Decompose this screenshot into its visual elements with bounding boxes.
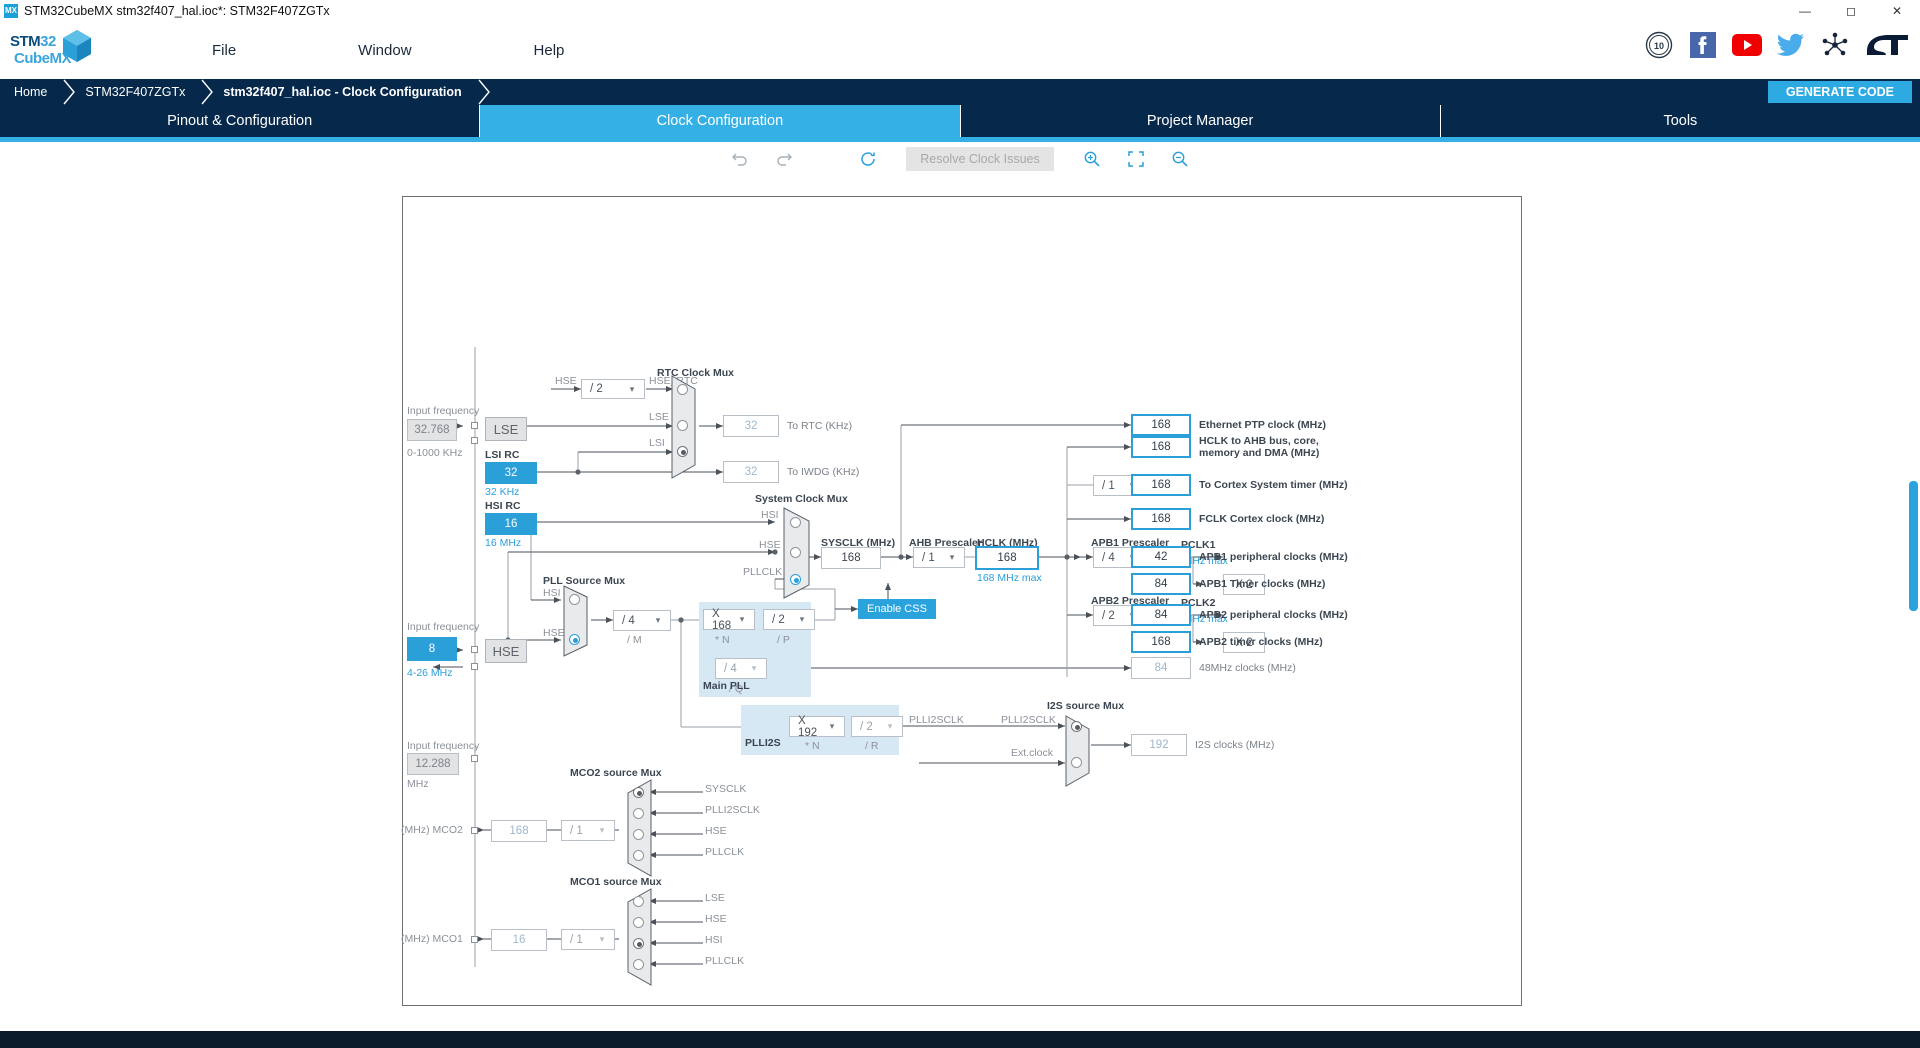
minimize-button[interactable]: — [1782,0,1828,22]
sysclk-value: 168 [821,547,881,569]
mco1-option-label-pllclk: PLLCLK [705,955,744,967]
hclk-max-label: 168 MHz max [977,572,1042,584]
chevron-down-icon: ▾ [734,614,750,625]
window-controls: — ◻ ✕ [1782,0,1920,22]
window-title: STM32CubeMX stm32f407_hal.ioc*: STM32F40… [24,4,330,18]
mco1-option-label-hse: HSE [705,913,727,925]
plli2sclk-out-label: PLLI2SCLK [909,714,964,726]
anniversary-10-years-icon[interactable]: 10 [1644,30,1674,60]
tab-pinout-configuration[interactable]: Pinout & Configuration [0,105,480,137]
sys-mux-option-hse[interactable] [790,547,801,558]
mco1-mux-option-hsi[interactable] [633,938,644,949]
mco2-divider[interactable]: / 1 ▾ [561,820,615,841]
system-clock-mux-title: System Clock Mux [755,493,848,505]
tab-tools[interactable]: Tools [1441,105,1920,137]
ahb-prescaler-value: / 1 [922,552,944,564]
pll-mux-hse-label: HSE [543,627,565,639]
pll-m-divider[interactable]: / 4 ▾ [613,610,671,631]
output-value-cortex-system-timer: 168 [1131,474,1191,496]
output-label-48mhz: 48MHz clocks (MHz) [1199,662,1296,674]
plli2s-title: PLLI2S [745,737,781,749]
output-value-fclk-cortex: 168 [1131,508,1191,530]
i2s-clocks-value: 192 [1131,734,1187,756]
mco2-mux-option-plli2sclk[interactable] [633,808,644,819]
close-button[interactable]: ✕ [1874,0,1920,22]
mco1-pin-label: (MHz) MCO1 [401,933,463,945]
social-links: 10 [1644,30,1910,60]
os-taskbar [0,1031,1920,1048]
menu-file[interactable]: File [206,38,242,63]
mco1-option-label-hsi: HSI [705,934,723,946]
ahb-prescaler[interactable]: / 1 ▾ [913,547,965,568]
i2s-mux-option-ext-clock[interactable] [1071,757,1082,768]
hse-input-frequency-field[interactable]: 8 [407,637,457,661]
i2s-source-mux-title: I2S source Mux [1047,700,1124,712]
stm32cubemx-logo: STM32 CubeMX [10,27,106,75]
pll-n-multiplier[interactable]: X 168 ▾ [703,609,755,630]
pll-mux-option-hsi[interactable] [569,594,580,605]
hse-input-frequency-label: Input frequency [407,621,479,633]
pll-p-caption: / P [777,634,790,646]
mco1-value: 16 [491,929,547,951]
mco1-source-mux[interactable] [623,888,653,991]
mco2-option-label-sysclk: SYSCLK [705,783,746,795]
pll-mux-hsi-label: HSI [543,587,561,599]
hse-pin-2[interactable] [471,663,478,670]
rtc-lse-label: LSE [649,411,669,423]
rtc-clock-mux[interactable] [671,375,703,484]
pll-n-caption: * N [715,634,730,646]
rtc-mux-option-hse-rtc[interactable] [677,384,688,395]
plli2s-r-divider[interactable]: / 2 ▾ [851,716,903,737]
mco1-divider-value: / 1 [570,934,594,946]
i2s-source-mux[interactable] [1065,715,1095,792]
st-logo-icon[interactable] [1864,30,1910,60]
svg-text:10: 10 [1654,41,1664,51]
breadcrumb-chevron-icon [478,79,491,105]
mco2-mux-option-sysclk[interactable] [633,787,644,798]
plli2s-r-caption: / R [865,740,878,752]
main-tabs: Pinout & Configuration Clock Configurati… [0,105,1920,137]
tab-project-manager[interactable]: Project Manager [961,105,1441,137]
chevron-down-icon: ▾ [882,721,898,732]
sys-mux-hsi-label: HSI [761,509,779,521]
undo-icon[interactable] [718,144,762,174]
i2s-mux-option-plli2sclk[interactable] [1071,721,1082,732]
lse-range-label: 0-1000 KHz [407,447,462,459]
pll-m-divider-value: / 4 [622,615,650,627]
hse-source-box[interactable]: HSE [485,639,527,663]
output-label-apb1-timer: APB1 Timer clocks (MHz) [1199,578,1325,590]
chevron-down-icon: ▾ [944,552,960,563]
maximize-button[interactable]: ◻ [1828,0,1874,22]
apb1-prescaler-value: / 4 [1102,552,1124,564]
community-icon[interactable] [1820,30,1850,60]
resolve-clock-issues-button[interactable]: Resolve Clock Issues [906,147,1054,171]
chevron-down-icon: ▾ [594,934,610,945]
lse-source-box[interactable]: LSE [485,417,527,441]
zoom-in-icon[interactable] [1070,144,1114,174]
i2s-input-frequency-label: Input frequency [407,740,479,752]
clock-canvas: Input frequency 32.768 0-1000 KHz LSE RT… [0,176,1920,1031]
lsi-rc-title: LSI RC [485,449,519,461]
chevron-down-icon: ▾ [794,614,810,625]
mco1-divider[interactable]: / 1 ▾ [561,929,615,950]
sys-mux-pllclk-label: PLLCLK [743,566,782,578]
i2s-clocks-label: I2S clocks (MHz) [1195,739,1274,751]
i2s-mux-ext-clock-label: Ext.clock [1011,747,1053,759]
vertical-scrollbar[interactable] [1909,481,1918,611]
clock-tree-diagram: Input frequency 32.768 0-1000 KHz LSE RT… [402,196,1522,1006]
pll-source-mux[interactable] [563,585,595,662]
rtc-mux-option-lsi[interactable] [677,446,688,457]
redo-icon[interactable] [762,144,806,174]
plli2s-n-value: X 192 [798,715,824,739]
output-value-apb1-peripheral: 42 [1131,546,1191,568]
chevron-down-icon: ▾ [624,384,640,395]
mco2-source-mux[interactable] [623,779,653,882]
i2s-input-frequency-field[interactable]: 12.288 [407,753,459,775]
plli2s-r-value: / 2 [860,721,882,733]
mco1-mux-option-hse[interactable] [633,917,644,928]
output-value-hclk-ahb: 168 [1131,436,1191,458]
clock-toolbar: Resolve Clock Issues [0,142,1920,176]
breadcrumb-mcu[interactable]: STM32F407ZGTx [63,79,201,105]
generate-code-button[interactable]: GENERATE CODE [1768,81,1912,103]
pll-p-value: / 2 [772,614,794,626]
breadcrumb-chevron-icon [201,79,214,105]
hsi-rc-unit: 16 MHz [485,537,521,549]
lse-pin-2[interactable] [471,437,478,444]
lse-input-frequency-label: Input frequency [407,405,479,417]
breadcrumb-current-label: stm32f407_hal.ioc - Clock Configuration [223,85,461,99]
mco2-mux-option-pllclk[interactable] [633,850,644,861]
output-label-ethernet-ptp: Ethernet PTP clock (MHz) [1199,419,1326,431]
mco2-option-label-hse: HSE [705,825,727,837]
menu-window[interactable]: Window [352,38,417,63]
enable-css-button[interactable]: Enable CSS [858,599,936,619]
sys-mux-option-pllclk[interactable] [790,574,801,585]
output-value-apb1-timer: 84 [1131,573,1191,595]
system-clock-mux[interactable] [783,507,817,604]
rtc-hse-divider[interactable]: / 2 ▾ [581,379,645,399]
output-label-cortex-system-timer: To Cortex System timer (MHz) [1199,479,1348,491]
output-value-apb2-peripheral: 84 [1131,604,1191,626]
sys-mux-option-hsi[interactable] [790,517,801,528]
hse-pin-1[interactable] [471,646,478,653]
mco2-source-mux-title: MCO2 source Mux [570,767,662,779]
cube-icon [62,29,92,63]
mco2-option-label-pllclk: PLLCLK [705,846,744,858]
lse-input-frequency-field[interactable]: 32.768 [407,419,457,441]
main-pll-title: Main PLL [703,680,750,692]
breadcrumb-mcu-label: STM32F407ZGTx [85,85,185,99]
facebook-icon[interactable] [1688,30,1718,60]
breadcrumb: Home STM32F407ZGTx stm32f407_hal.ioc - C… [0,79,1920,105]
to-rtc-value: 32 [723,415,779,437]
menu-help[interactable]: Help [528,38,571,63]
chevron-down-icon: ▾ [594,825,610,836]
pll-n-value: X 168 [712,608,734,632]
hsi-rc-title: HSI RC [485,500,521,512]
rtc-mux-option-lse[interactable] [677,420,688,431]
lsi-rc-value[interactable]: 32 [485,462,537,484]
app-icon: MX [4,4,18,18]
sys-mux-hse-label: HSE [759,539,781,551]
mco2-mux-option-hse[interactable] [633,829,644,840]
plli2s-n-multiplier[interactable]: X 192 ▾ [789,716,845,737]
title-bar: MX STM32CubeMX stm32f407_hal.ioc*: STM32… [0,0,1920,22]
hsi-rc-value[interactable]: 16 [485,513,537,535]
twitter-icon[interactable] [1776,30,1806,60]
output-label-fclk-cortex: FCLK Cortex clock (MHz) [1199,513,1324,525]
mco2-pin[interactable] [471,827,478,834]
i2s-mux-plli2sclk-label: PLLI2SCLK [1001,714,1056,726]
mco1-mux-option-lse[interactable] [633,896,644,907]
pll-p-divider[interactable]: / 2 ▾ [763,609,815,630]
to-rtc-label: To RTC (KHz) [787,420,852,432]
pll-mux-option-hse[interactable] [569,634,580,645]
hse-range-label: 4-26 MHz [407,667,453,679]
lsi-rc-unit: 32 KHz [485,486,519,498]
chevron-down-icon: ▾ [746,663,762,674]
i2s-input-unit-label: MHz [407,778,429,790]
mco1-option-label-lse: LSE [705,892,725,904]
pll-q-value: / 4 [724,663,746,675]
mco1-pin[interactable] [471,936,478,943]
youtube-icon[interactable] [1732,30,1762,60]
mco2-option-label-plli2sclk: PLLI2SCLK [705,804,760,816]
lse-pin-1[interactable] [471,422,478,429]
to-iwdg-label: To IWDG (KHz) [787,466,859,478]
output-label-hclk-ahb-line2: memory and DMA (MHz) [1199,447,1319,459]
apb2-prescaler-value: / 2 [1102,610,1124,622]
breadcrumb-chevron-icon [63,79,76,105]
pll-m-caption: / M [627,634,642,646]
reset-icon[interactable] [846,144,890,174]
chevron-down-icon: ▾ [650,615,666,626]
to-iwdg-value: 32 [723,461,779,483]
breadcrumb-current[interactable]: stm32f407_hal.ioc - Clock Configuration [201,79,477,105]
pll-q-divider[interactable]: / 4 ▾ [715,658,767,679]
hclk-value[interactable]: 168 [975,546,1039,570]
output-label-apb2-peripheral: APB2 peripheral clocks (MHz) [1199,609,1348,621]
mco2-value: 168 [491,820,547,842]
mco1-source-mux-title: MCO1 source Mux [570,876,662,888]
i2s-input-pin[interactable] [471,755,478,762]
breadcrumb-home[interactable]: Home [0,79,63,105]
rtc-hse-divider-value: / 2 [590,383,624,395]
mco2-pin-label: (MHz) MCO2 [401,824,463,836]
breadcrumb-home-label: Home [14,85,47,99]
rtc-lsi-label: LSI [649,437,665,449]
output-value-48mhz: 84 [1131,657,1191,679]
zoom-out-icon[interactable] [1158,144,1202,174]
output-value-apb2-timer: 168 [1131,631,1191,653]
cortex-divider-value: / 1 [1102,480,1124,492]
mco2-divider-value: / 1 [570,825,594,837]
plli2s-n-caption: * N [805,740,820,752]
menu-items: File Window Help [206,38,570,63]
output-label-apb1-peripheral: APB1 peripheral clocks (MHz) [1199,551,1348,563]
menu-bar: STM32 CubeMX File Window Help 10 [0,22,1920,79]
output-label-apb2-timer: APB2 timer clocks (MHz) [1199,636,1323,648]
fit-to-screen-icon[interactable] [1114,144,1158,174]
mco1-mux-option-pllclk[interactable] [633,959,644,970]
rtc-hse-label: HSE [555,375,577,387]
tab-clock-configuration[interactable]: Clock Configuration [480,105,960,137]
output-label-hclk-ahb: HCLK to AHB bus, core, [1199,435,1319,447]
output-value-ethernet-ptp: 168 [1131,414,1191,436]
chevron-down-icon: ▾ [824,721,840,732]
